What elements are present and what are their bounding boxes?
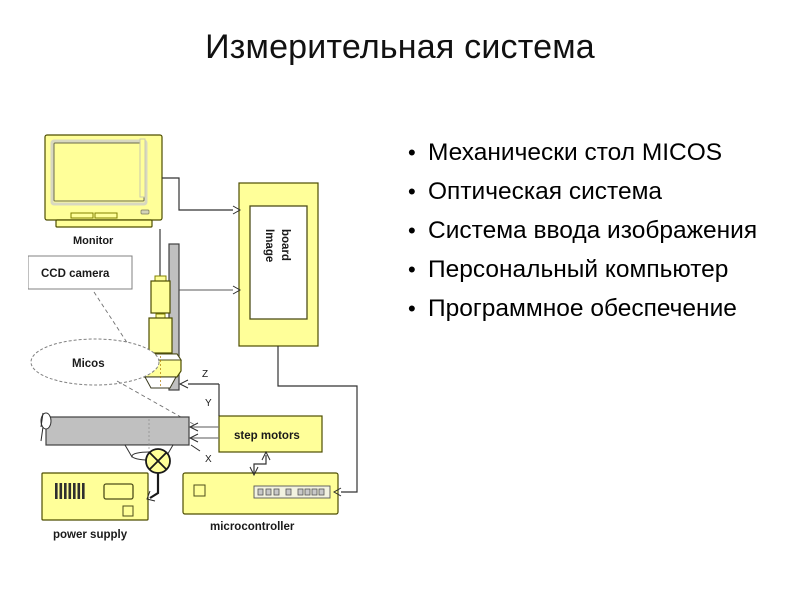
list-item: • Оптическая система (408, 177, 788, 207)
bullet-marker-icon: • (408, 138, 428, 168)
power-supply-graphic (42, 473, 148, 520)
microcontroller-graphic (183, 473, 338, 514)
list-item-label: Оптическая система (428, 177, 788, 207)
micos-label: Micos (72, 358, 105, 370)
bullet-marker-icon: • (408, 294, 428, 324)
microcontroller-label: microcontroller (210, 521, 295, 533)
bullet-marker-icon: • (408, 177, 428, 207)
svg-text:board: board (279, 229, 291, 261)
power-supply-label: power supply (53, 529, 128, 541)
list-item-label: Система ввода изображения (428, 216, 788, 246)
wire-motor-to-powersupply (147, 473, 158, 501)
svg-text:Image: Image (263, 229, 275, 262)
axis-label-z: Z (202, 369, 208, 380)
measurement-system-diagram: Monitor Image board (28, 128, 378, 548)
list-item: • Система ввода изображения (408, 216, 788, 246)
ccd-camera-label: CCD camera (41, 268, 110, 280)
motor-symbol-icon (146, 449, 170, 473)
image-board-graphic (239, 183, 318, 346)
axis-label-y: Y (205, 398, 212, 409)
list-item: • Механически стол MICOS (408, 138, 788, 168)
monitor-graphic (45, 135, 162, 227)
bullet-list: • Механически стол MICOS • Оптическая си… (408, 138, 788, 333)
list-item: • Программное обеспечение (408, 294, 788, 324)
bullet-marker-icon: • (408, 216, 428, 246)
slide-canvas: Измерительная система Monitor Ima (0, 0, 800, 600)
step-motors-label: step motors (234, 430, 300, 442)
axis-label-x: X (205, 454, 212, 465)
bullet-marker-icon: • (408, 255, 428, 285)
monitor-label: Monitor (73, 235, 114, 247)
list-item-label: Механически стол MICOS (428, 138, 788, 168)
wire-monitor-to-imageboard (162, 178, 240, 214)
list-item-label: Программное обеспечение (428, 294, 788, 324)
list-item: • Персональный компьютер (408, 255, 788, 285)
page-title: Измерительная система (40, 28, 760, 67)
wire-microcontroller-to-stepmotors (250, 452, 270, 475)
list-item-label: Персональный компьютер (428, 255, 788, 285)
